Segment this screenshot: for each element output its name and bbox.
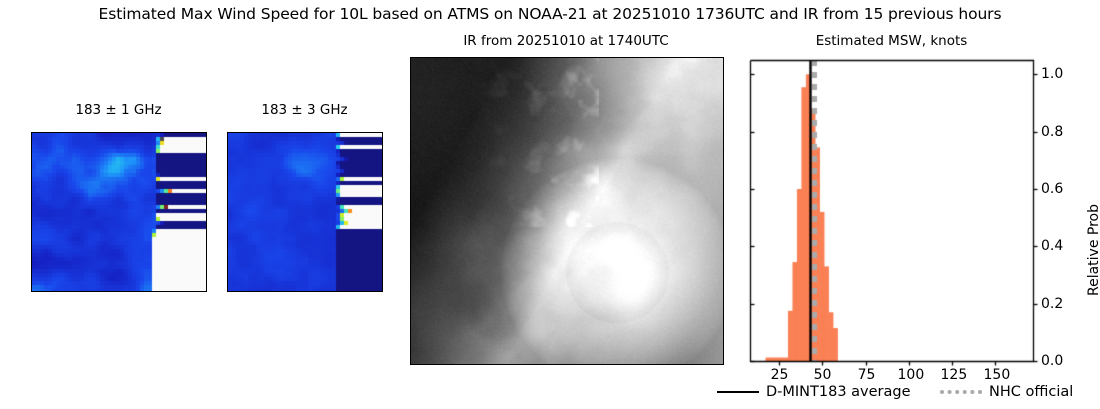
legend-item-dmint183-average: D-MINT183 average	[717, 384, 911, 400]
legend-label-dmint183-average: D-MINT183 average	[766, 384, 911, 400]
legend-item-nhc-official: NHC official	[940, 384, 1073, 400]
figure-legend: D-MINT183 average NHC official	[0, 381, 1100, 407]
legend-label-nhc-official: NHC official	[989, 384, 1073, 400]
ytick-label-0.4: 0.4	[1041, 238, 1063, 254]
legend-dashed-line-swatch	[940, 390, 982, 394]
ytick-label-0.6: 0.6	[1041, 181, 1063, 197]
ytick-label-0.8: 0.8	[1041, 124, 1063, 140]
ytick-label-1.0: 1.0	[1041, 66, 1063, 82]
ytick-label-0.2: 0.2	[1041, 296, 1063, 312]
msw-histogram-plot	[0, 0, 1100, 409]
legend-solid-line-swatch	[717, 391, 759, 393]
ytick-label-0.0: 0.0	[1041, 353, 1063, 369]
histogram-ylabel: Relative Prob	[1086, 204, 1100, 296]
